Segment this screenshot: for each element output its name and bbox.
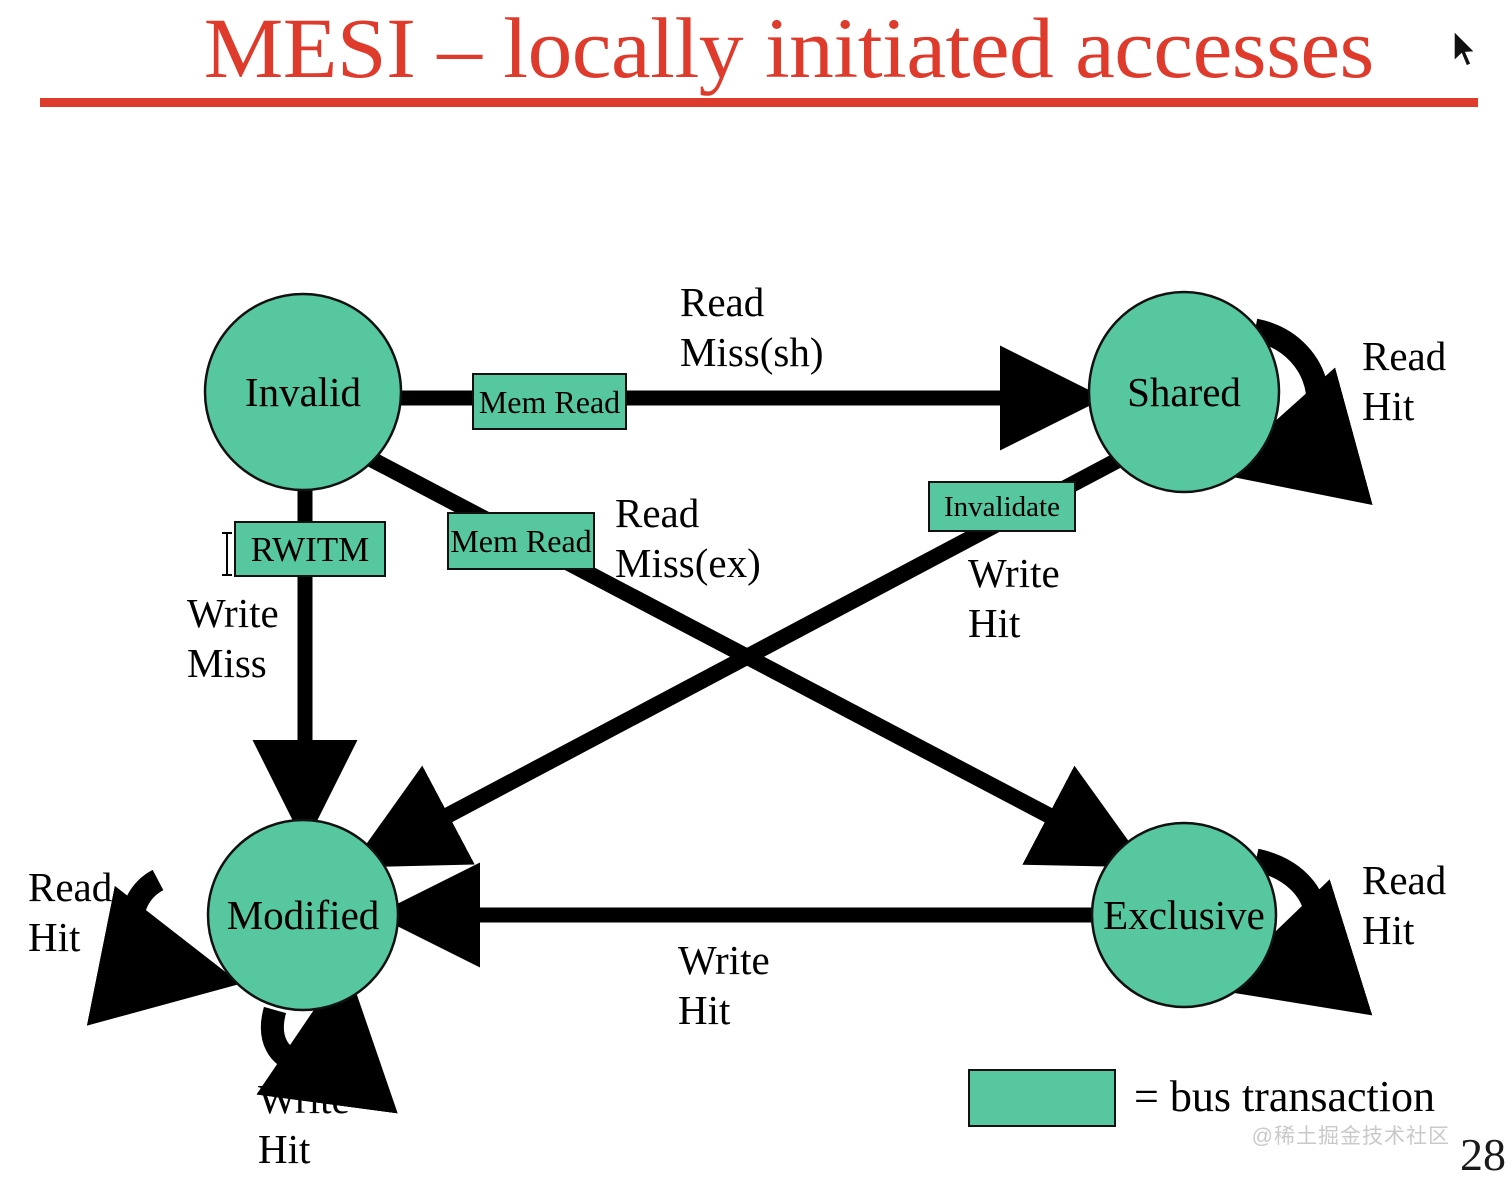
edge-label-read-miss-sh-line2: Miss(sh) xyxy=(680,322,824,382)
state-node-shared[interactable] xyxy=(1089,292,1279,492)
slide-canvas: MESI – locally initiated accesses xyxy=(0,0,1512,1182)
edge-label-bottom-write-hit-line2: Hit xyxy=(678,980,730,1040)
edge-label-write-miss-line2: Miss xyxy=(187,633,267,693)
edge-label-read-miss-ex-line2: Miss(ex) xyxy=(615,533,761,593)
bus-box-invalidate[interactable]: Invalidate xyxy=(928,481,1076,532)
legend-label: = bus transaction xyxy=(1134,1066,1435,1128)
bus-box-mem-read-shared[interactable]: Mem Read xyxy=(472,373,627,430)
state-node-invalid[interactable] xyxy=(205,294,401,490)
legend-swatch-bus-transaction xyxy=(968,1069,1116,1127)
self-loop-modified-write-hit xyxy=(272,1010,338,1061)
edge-label-modified-read-hit-line2: Hit xyxy=(28,907,80,967)
legend: = bus transaction xyxy=(968,1066,1468,1126)
self-loop-modified-read-hit xyxy=(133,880,182,972)
edge-label-exclusive-read-hit-line2: Hit xyxy=(1362,900,1414,960)
state-node-modified[interactable] xyxy=(208,820,398,1010)
edge-label-shared-read-hit-line2: Hit xyxy=(1362,376,1414,436)
bus-box-rwitm[interactable]: RWITM xyxy=(234,521,386,577)
bus-box-mem-read-exclusive[interactable]: Mem Read xyxy=(447,512,595,570)
page-number: 28 xyxy=(1460,1130,1506,1180)
state-node-exclusive[interactable] xyxy=(1092,823,1276,1007)
edge-label-shared-write-hit-line2: Hit xyxy=(968,593,1020,653)
watermark: @稀土掘金技术社区 xyxy=(1252,1125,1450,1149)
edge-label-modified-write-hit-line2: Hit xyxy=(258,1119,310,1179)
